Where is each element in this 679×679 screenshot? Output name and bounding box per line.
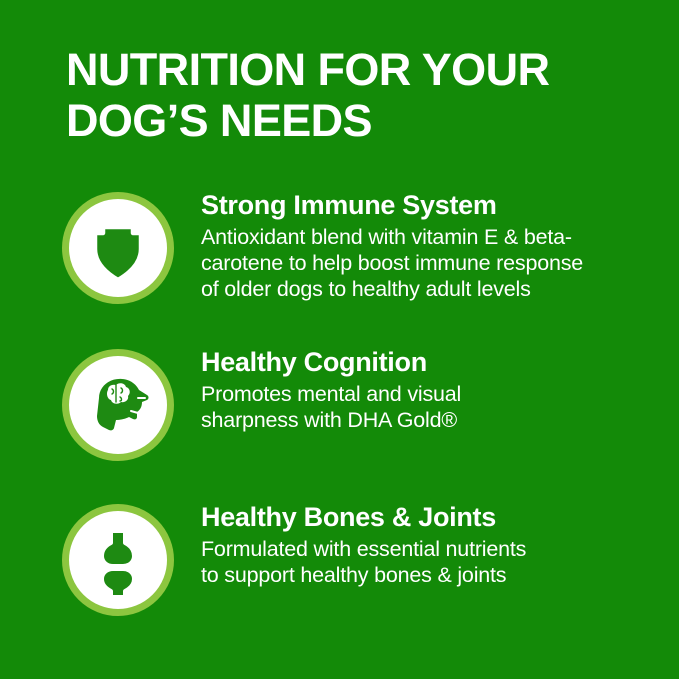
dog-head-brain-icon (62, 349, 174, 461)
feature-text-block: Healthy Bones & Joints Formulated with e… (201, 502, 666, 588)
page-title: NUTRITION FOR YOUR DOG’S NEEDS (66, 44, 646, 146)
feature-title: Strong Immune System (201, 190, 666, 221)
feature-text-block: Strong Immune System Antioxidant blend w… (201, 190, 666, 302)
feature-item: Healthy Bones & Joints Formulated with e… (0, 502, 679, 622)
shield-icon (62, 192, 174, 304)
feature-description: Promotes mental and visual sharpness wit… (201, 381, 666, 433)
promo-panel: NUTRITION FOR YOUR DOG’S NEEDS Strong Im… (0, 0, 679, 679)
feature-text-block: Healthy Cognition Promotes mental and vi… (201, 347, 666, 433)
feature-title: Healthy Bones & Joints (201, 502, 666, 533)
feature-title: Healthy Cognition (201, 347, 666, 378)
feature-item: Strong Immune System Antioxidant blend w… (0, 190, 679, 310)
knee-joint-bone-icon (62, 504, 174, 616)
feature-description: Antioxidant blend with vitamin E & beta-… (201, 224, 666, 302)
feature-description: Formulated with essential nutrients to s… (201, 536, 666, 588)
feature-item: Healthy Cognition Promotes mental and vi… (0, 347, 679, 467)
